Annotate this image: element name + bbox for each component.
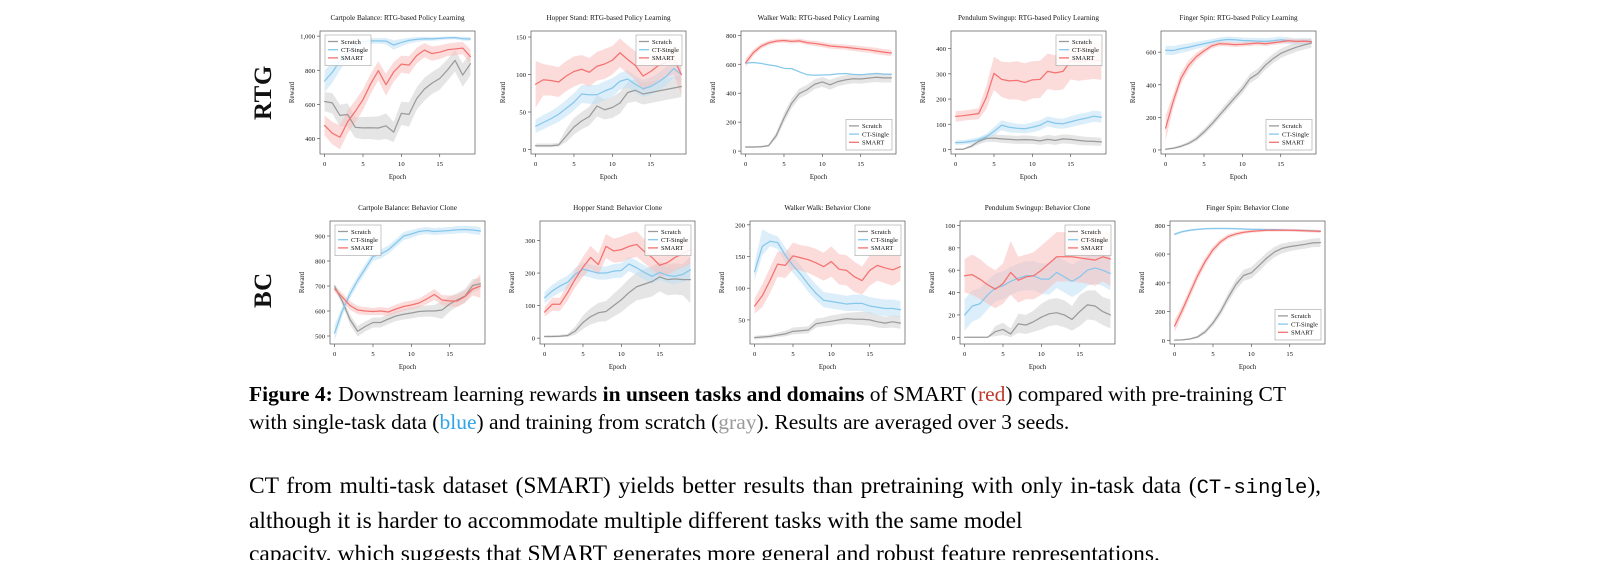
y-tick-label: 800	[726, 33, 737, 40]
y-axis-label: Reward	[710, 81, 717, 103]
y-tick-label: 700	[315, 284, 326, 291]
figure-caption: Figure 4: Downstream learning rewards in…	[249, 381, 1319, 436]
x-tick-label: 10	[609, 161, 616, 168]
x-tick-label: 10	[1239, 161, 1246, 168]
x-tick-label: 5	[791, 351, 795, 358]
x-tick-label: 15	[656, 351, 663, 358]
figure-4-panel-grid: RTG BC Cartpole Balance: RTG-based Polic…	[0, 0, 1618, 378]
caption-blue-word: blue	[439, 410, 476, 434]
chart-panel-finger-bc: Finger Spin: Behavior Clone0200400600800…	[1126, 198, 1331, 384]
chart-panel-hopper-rtg: Hopper Stand: RTG-based Policy Learning0…	[487, 8, 692, 194]
legend-label-ct-single: CT-Single	[1282, 131, 1309, 138]
y-tick-label: 0	[1162, 338, 1166, 345]
y-tick-label: 200	[726, 120, 737, 127]
caption-gray-word: gray	[718, 410, 756, 434]
y-tick-label: 800	[305, 68, 316, 75]
y-tick-label: 800	[1155, 223, 1166, 230]
legend-label-ct-single: CT-Single	[1291, 321, 1318, 328]
y-axis-label: Reward	[719, 271, 726, 293]
chart-legend: ScratchCT-SingleSMART	[1266, 119, 1312, 150]
y-tick-label: 100	[945, 223, 956, 230]
x-tick-label: 15	[1277, 161, 1284, 168]
legend-label-smart: SMART	[652, 55, 674, 62]
x-tick-label: 0	[753, 351, 757, 358]
legend-label-scratch: Scratch	[1282, 123, 1302, 130]
chart-title: Pendulum Swingup: RTG-based Policy Learn…	[958, 14, 1099, 22]
legend-label-scratch: Scratch	[862, 123, 882, 130]
x-axis-label: Epoch	[1020, 174, 1038, 181]
legend-label-scratch: Scratch	[871, 229, 891, 236]
legend-label-smart: SMART	[1282, 140, 1304, 147]
chart-legend: ScratchCT-SingleSMART	[636, 35, 682, 66]
y-tick-label: 0	[733, 149, 737, 156]
y-tick-label: 20	[948, 312, 955, 319]
chart-title: Walker Walk: Behavior Clone	[784, 204, 870, 212]
chart-panel-hopper-bc: Hopper Stand: Behavior Clone010020030005…	[496, 198, 701, 384]
x-tick-label: 0	[1173, 351, 1177, 358]
chart-legend: ScratchCT-SingleSMART	[1056, 35, 1102, 66]
x-tick-label: 15	[436, 161, 443, 168]
legend-label-scratch: Scratch	[1081, 229, 1101, 236]
y-tick-label: 40	[948, 290, 955, 297]
chart-title: Hopper Stand: Behavior Clone	[573, 204, 662, 212]
x-axis-label: Epoch	[1029, 364, 1047, 371]
y-tick-label: 900	[315, 234, 326, 241]
x-tick-label: 0	[963, 351, 967, 358]
y-tick-label: 0	[523, 147, 527, 154]
caption-part4: ) and training from scratch (	[477, 410, 719, 434]
legend-label-ct-single: CT-Single	[1072, 47, 1099, 54]
legend-label-smart: SMART	[1081, 245, 1103, 252]
legend-label-smart: SMART	[862, 140, 884, 147]
y-tick-label: 600	[1146, 50, 1157, 57]
row-label-rtg: RTG	[250, 60, 278, 120]
paper-figure-page: RTG BC Cartpole Balance: RTG-based Polic…	[0, 0, 1618, 563]
legend-label-scratch: Scratch	[341, 39, 361, 46]
y-axis-label: Reward	[289, 81, 296, 103]
y-tick-label: 100	[516, 72, 527, 79]
legend-label-ct-single: CT-Single	[1081, 237, 1108, 244]
y-axis-label: Reward	[500, 81, 507, 103]
y-tick-label: 100	[735, 286, 746, 293]
chart-title: Walker Walk: RTG-based Policy Learning	[758, 14, 880, 22]
x-tick-label: 15	[866, 351, 873, 358]
y-tick-label: 500	[315, 334, 326, 341]
y-tick-label: 200	[1155, 309, 1166, 316]
chart-panel-pendulum-bc: Pendulum Swingup: Behavior Clone02040608…	[916, 198, 1121, 384]
y-tick-label: 300	[936, 71, 947, 78]
chart-panel-cartpole-rtg: Cartpole Balance: RTG-based Policy Learn…	[276, 8, 481, 194]
y-tick-label: 100	[936, 122, 947, 129]
y-tick-label: 200	[1146, 115, 1157, 122]
x-tick-label: 10	[819, 161, 826, 168]
y-tick-label: 50	[738, 317, 745, 324]
y-tick-label: 80	[948, 245, 955, 252]
chart-title: Finger Spin: RTG-based Policy Learning	[1179, 14, 1298, 22]
legend-label-ct-single: CT-Single	[871, 237, 898, 244]
legend-label-scratch: Scratch	[1072, 39, 1092, 46]
y-tick-label: 600	[305, 102, 316, 109]
y-tick-label: 400	[1155, 280, 1166, 287]
legend-label-ct-single: CT-Single	[862, 131, 889, 138]
y-tick-label: 200	[735, 222, 746, 229]
chart-title: Cartpole Balance: RTG-based Policy Learn…	[330, 14, 464, 22]
y-tick-label: 60	[948, 268, 955, 275]
y-tick-label: 400	[726, 91, 737, 98]
x-tick-label: 5	[992, 161, 996, 168]
x-tick-label: 10	[408, 351, 415, 358]
y-tick-label: 0	[952, 335, 956, 342]
chart-panel-walker-bc: Walker Walk: Behavior Clone5010015020005…	[706, 198, 911, 384]
y-tick-label: 0	[532, 336, 536, 343]
caption-part2: of SMART (	[864, 382, 978, 406]
chart-legend: ScratchCT-SingleSMART	[645, 225, 691, 256]
chart-title: Finger Spin: Behavior Clone	[1206, 204, 1289, 212]
x-tick-label: 5	[572, 161, 576, 168]
chart-panel-walker-rtg: Walker Walk: RTG-based Policy Learning02…	[697, 8, 902, 194]
y-tick-label: 150	[516, 35, 527, 42]
x-axis-label: Epoch	[389, 174, 407, 181]
legend-label-smart: SMART	[341, 55, 363, 62]
y-tick-label: 1,000	[300, 34, 316, 41]
x-axis-label: Epoch	[609, 364, 627, 371]
y-tick-label: 600	[1155, 252, 1166, 259]
caption-part1: Downstream learning rewards	[333, 382, 603, 406]
caption-part5: ). Results are averaged over 3 seeds.	[756, 410, 1069, 434]
x-tick-label: 10	[1029, 161, 1036, 168]
caption-label: Figure 4:	[249, 382, 333, 406]
caption-red-word: red	[978, 382, 1005, 406]
legend-label-ct-single: CT-Single	[652, 47, 679, 54]
y-tick-label: 600	[726, 62, 737, 69]
chart-legend: ScratchCT-SingleSMART	[1065, 225, 1111, 256]
x-tick-label: 0	[1164, 161, 1168, 168]
x-tick-label: 15	[446, 351, 453, 358]
x-tick-label: 15	[647, 161, 654, 168]
chart-panel-cartpole-bc: Cartpole Balance: Behavior Clone50060070…	[286, 198, 491, 384]
chart-legend: ScratchCT-SingleSMART	[855, 225, 901, 256]
legend-label-smart: SMART	[661, 245, 683, 252]
chart-legend: ScratchCT-SingleSMART	[1275, 309, 1321, 340]
legend-label-scratch: Scratch	[1291, 313, 1311, 320]
y-tick-label: 400	[936, 46, 947, 53]
y-tick-label: 200	[936, 97, 947, 104]
x-tick-label: 0	[534, 161, 538, 168]
legend-label-smart: SMART	[871, 245, 893, 252]
chart-title: Cartpole Balance: Behavior Clone	[358, 204, 457, 212]
x-tick-label: 5	[371, 351, 375, 358]
x-tick-label: 10	[1248, 351, 1255, 358]
x-axis-label: Epoch	[1230, 174, 1248, 181]
legend-label-scratch: Scratch	[661, 229, 681, 236]
x-tick-label: 0	[954, 161, 958, 168]
x-tick-label: 0	[543, 351, 547, 358]
x-tick-label: 0	[333, 351, 337, 358]
y-axis-label: Reward	[1130, 81, 1137, 103]
y-axis-label: Reward	[299, 271, 306, 293]
x-axis-label: Epoch	[1239, 364, 1257, 371]
chart-title: Pendulum Swingup: Behavior Clone	[985, 204, 1091, 212]
legend-label-ct-single: CT-Single	[661, 237, 688, 244]
row-label-bc: BC	[250, 256, 278, 308]
legend-label-smart: SMART	[351, 245, 373, 252]
y-tick-label: 100	[525, 303, 536, 310]
y-tick-label: 0	[1153, 147, 1157, 154]
x-tick-label: 15	[857, 161, 864, 168]
body-paragraph: CT from multi-task dataset (SMART) yield…	[249, 470, 1321, 560]
caption-bold-phrase: in unseen tasks and domains	[603, 382, 865, 406]
x-tick-label: 15	[1067, 161, 1074, 168]
body-ct-single-code: CT-single	[1197, 477, 1308, 500]
x-axis-label: Epoch	[810, 174, 828, 181]
legend-label-ct-single: CT-Single	[351, 237, 378, 244]
body-line-3: capacity, which suggests that SMART gene…	[249, 538, 1321, 560]
x-tick-label: 5	[1202, 161, 1206, 168]
y-tick-label: 0	[943, 147, 947, 154]
chart-title: Hopper Stand: RTG-based Policy Learning	[546, 14, 671, 22]
y-axis-label: Reward	[920, 81, 927, 103]
x-tick-label: 10	[1038, 351, 1045, 358]
y-tick-label: 600	[315, 309, 326, 316]
x-tick-label: 5	[1001, 351, 1005, 358]
body-line-2-open: (	[1189, 473, 1197, 499]
body-line-1: CT from multi-task dataset (SMART) yield…	[249, 473, 1181, 499]
x-tick-label: 5	[1211, 351, 1215, 358]
legend-label-ct-single: CT-Single	[341, 47, 368, 54]
x-tick-label: 5	[361, 161, 365, 168]
x-tick-label: 15	[1286, 351, 1293, 358]
y-tick-label: 800	[315, 259, 326, 266]
x-tick-label: 0	[323, 161, 327, 168]
x-tick-label: 5	[581, 351, 585, 358]
y-tick-label: 400	[305, 136, 316, 143]
x-tick-label: 10	[828, 351, 835, 358]
x-tick-label: 0	[744, 161, 748, 168]
x-tick-label: 5	[782, 161, 786, 168]
x-axis-label: Epoch	[600, 174, 618, 181]
legend-label-scratch: Scratch	[351, 229, 371, 236]
chart-panel-finger-rtg: Finger Spin: RTG-based Policy Learning02…	[1117, 8, 1322, 194]
legend-label-scratch: Scratch	[652, 39, 672, 46]
chart-legend: ScratchCT-SingleSMART	[335, 225, 381, 256]
y-tick-label: 300	[525, 238, 536, 245]
x-tick-label: 15	[1076, 351, 1083, 358]
y-tick-label: 200	[525, 271, 536, 278]
chart-panel-pendulum-rtg: Pendulum Swingup: RTG-based Policy Learn…	[907, 8, 1112, 194]
x-axis-label: Epoch	[399, 364, 417, 371]
x-tick-label: 10	[398, 161, 405, 168]
chart-legend: ScratchCT-SingleSMART	[846, 119, 892, 150]
y-axis-label: Reward	[929, 271, 936, 293]
y-tick-label: 150	[735, 254, 746, 261]
legend-label-smart: SMART	[1072, 55, 1094, 62]
y-axis-label: Reward	[509, 271, 516, 293]
x-axis-label: Epoch	[819, 364, 837, 371]
x-tick-label: 10	[618, 351, 625, 358]
chart-legend: ScratchCT-SingleSMART	[325, 35, 371, 66]
legend-label-smart: SMART	[1291, 330, 1313, 337]
y-axis-label: Reward	[1139, 271, 1146, 293]
y-tick-label: 400	[1146, 82, 1157, 89]
y-tick-label: 50	[519, 110, 526, 117]
